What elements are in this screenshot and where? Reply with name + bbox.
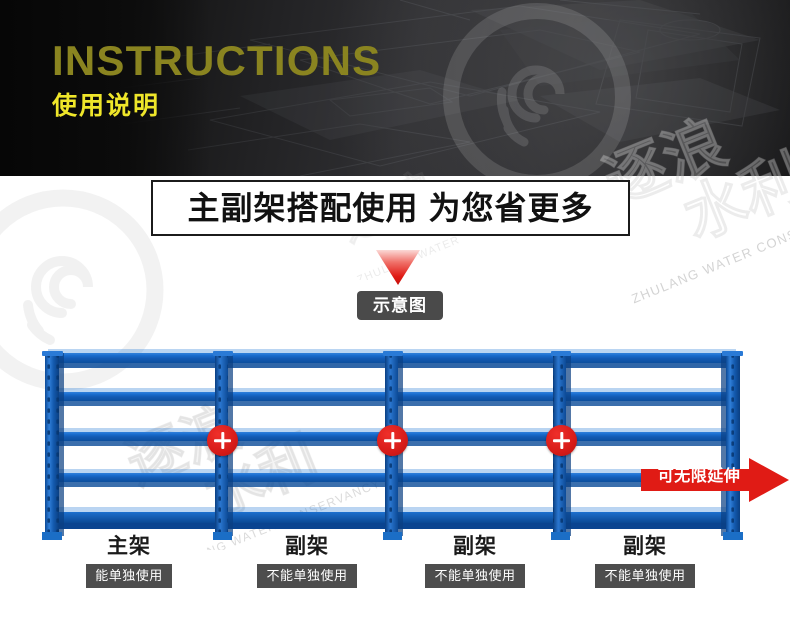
schematic-chip: 示意图 xyxy=(357,291,443,320)
unit-label-3: 副架 不能单独使用 xyxy=(581,536,709,588)
down-triangle-icon xyxy=(375,249,421,286)
header-title-cn: 使用说明 xyxy=(52,94,160,119)
header-banner: INSTRUCTIONS 使用说明 xyxy=(0,0,790,176)
unit-labels: 主架 能单独使用 副架 不能单独使用 副架 不能单独使用 副架 不能单独使用 xyxy=(0,536,790,596)
page-root: INSTRUCTIONS 使用说明 逐浪 水利 ZHULANG WATER CO… xyxy=(0,0,790,634)
plus-icon xyxy=(546,425,577,456)
unit-name: 副架 xyxy=(581,536,709,557)
unit-badge: 不能单独使用 xyxy=(425,564,524,588)
plus-icon xyxy=(207,425,238,456)
swirl-logo-watermark xyxy=(432,0,642,176)
unit-label-1: 副架 不能单独使用 xyxy=(243,536,371,588)
header-title-en: INSTRUCTIONS xyxy=(52,40,381,82)
unit-name: 副架 xyxy=(243,536,371,557)
unit-badge: 能单独使用 xyxy=(86,564,172,588)
main-title-text: 主副架搭配使用 为您省更多 xyxy=(188,192,594,224)
unit-name: 副架 xyxy=(411,536,539,557)
svg-text:ZHULANG WATER CONSERVANCY: ZHULANG WATER CONSERVANCY xyxy=(629,199,790,306)
header-left-fade xyxy=(0,0,210,176)
extend-arrow: 可无限延伸 xyxy=(641,458,789,502)
plus-icon xyxy=(377,425,408,456)
unit-badge: 不能单独使用 xyxy=(257,564,356,588)
unit-label-0: 主架 能单独使用 xyxy=(71,536,187,588)
unit-name: 主架 xyxy=(71,536,187,557)
main-title-box: 主副架搭配使用 为您省更多 xyxy=(151,180,630,236)
unit-label-2: 副架 不能单独使用 xyxy=(411,536,539,588)
extend-arrow-label: 可无限延伸 xyxy=(651,469,747,485)
schematic-chip-label: 示意图 xyxy=(373,297,427,314)
unit-badge: 不能单独使用 xyxy=(595,564,694,588)
